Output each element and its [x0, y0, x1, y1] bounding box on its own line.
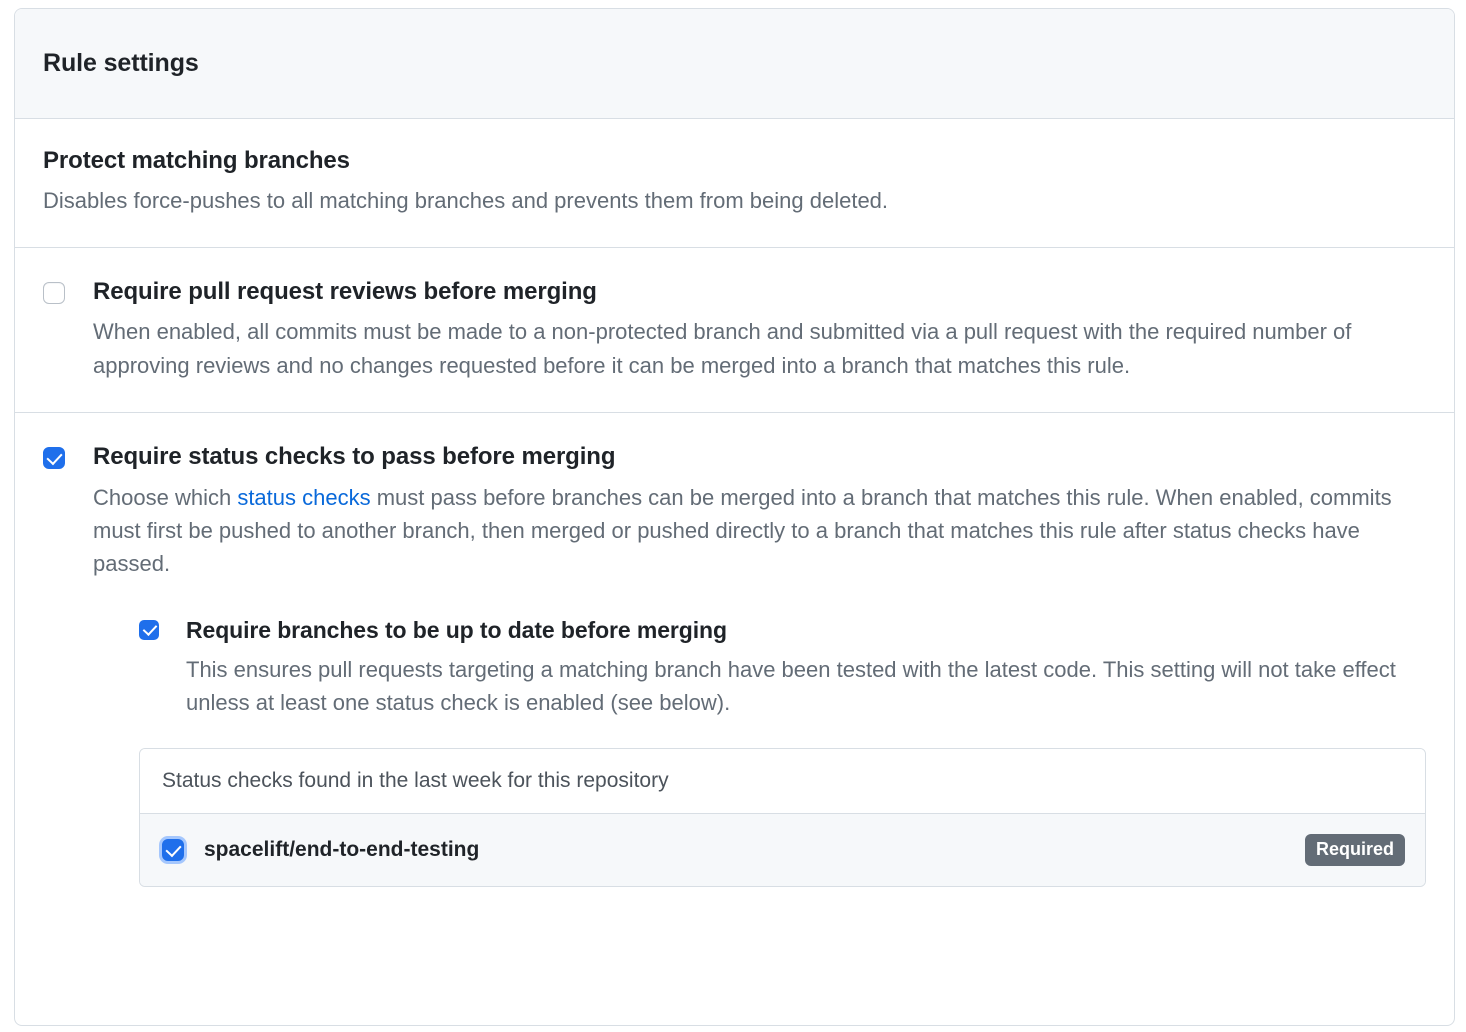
page-title: Rule settings	[43, 49, 199, 78]
status-check-checkbox-wrap[interactable]	[162, 839, 184, 861]
status-checks-desc-part1: Choose which	[93, 485, 237, 510]
status-check-row[interactable]: spacelift/end-to-end-testing Required	[140, 814, 1425, 886]
section-require-pull-request-reviews: Require pull request reviews before merg…	[15, 248, 1454, 413]
status-checks-link[interactable]: status checks	[237, 485, 370, 510]
status-checks-box: Status checks found in the last week for…	[139, 748, 1426, 887]
status-badge: Required	[1305, 834, 1405, 866]
require-status-checks-checkbox[interactable]	[43, 447, 65, 469]
require-pr-reviews-row[interactable]: Require pull request reviews before merg…	[43, 276, 1426, 382]
require-branches-up-to-date-description: This ensures pull requests targeting a m…	[186, 653, 1426, 720]
require-pr-reviews-label[interactable]: Require pull request reviews before merg…	[93, 276, 1426, 308]
protect-branches-description: Disables force-pushes to all matching br…	[43, 185, 1426, 217]
section-require-status-checks: Require status checks to pass before mer…	[15, 413, 1454, 917]
require-pr-reviews-description: When enabled, all commits must be made t…	[93, 315, 1426, 382]
section-protect-matching-branches: Protect matching branches Disables force…	[15, 119, 1454, 248]
require-branches-up-to-date-label[interactable]: Require branches to be up to date before…	[186, 615, 1426, 646]
status-check-checkbox[interactable]	[162, 839, 184, 861]
require-status-checks-label[interactable]: Require status checks to pass before mer…	[93, 441, 1426, 473]
require-status-checks-row[interactable]: Require status checks to pass before mer…	[43, 441, 1426, 887]
require-branches-up-to-date-row[interactable]: Require branches to be up to date before…	[139, 615, 1426, 720]
status-checks-box-header: Status checks found in the last week for…	[140, 749, 1425, 814]
require-pr-reviews-checkbox[interactable]	[43, 282, 65, 304]
nested-options: Require branches to be up to date before…	[93, 615, 1426, 887]
status-check-name: spacelift/end-to-end-testing	[204, 838, 1305, 862]
card-header: Rule settings	[15, 9, 1454, 119]
require-status-checks-description: Choose which status checks must pass bef…	[93, 481, 1426, 581]
protect-branches-title: Protect matching branches	[43, 147, 1426, 175]
require-branches-up-to-date-checkbox[interactable]	[139, 620, 159, 640]
rule-settings-card: Rule settings Protect matching branches …	[14, 8, 1455, 1026]
